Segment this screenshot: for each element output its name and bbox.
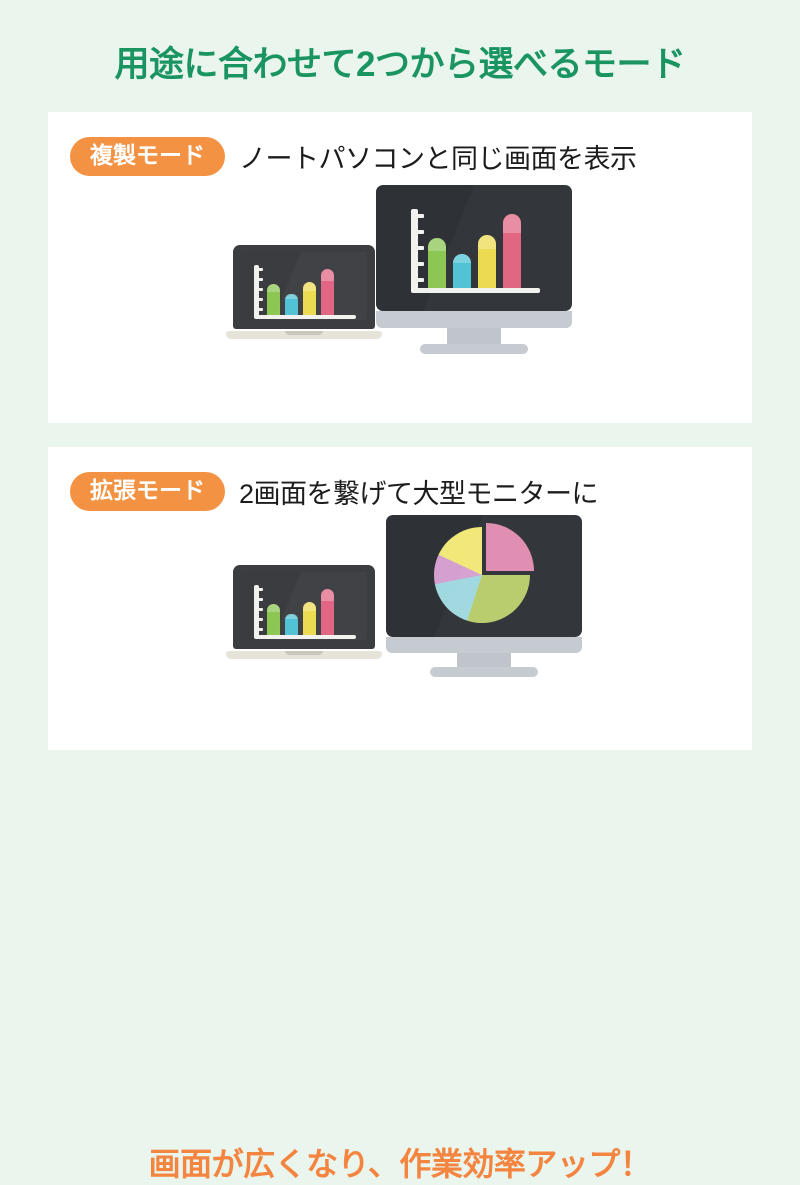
bar-4 — [321, 269, 334, 315]
pie-chart-monitor-extend — [434, 525, 534, 625]
monitor-duplicate — [376, 185, 572, 360]
device-illustration-extend — [48, 515, 752, 680]
pie-slice-pink-exploded — [438, 523, 534, 619]
bar-2 — [453, 254, 471, 288]
bar-3 — [478, 235, 496, 288]
bar-2 — [285, 614, 298, 635]
bar-chart-monitor-duplicate — [411, 203, 541, 293]
mode-badge-extend: 拡張モード — [70, 472, 225, 511]
bar-2 — [285, 294, 298, 315]
bar-1 — [267, 604, 280, 635]
page-title: 用途に合わせて2つから選べるモード — [0, 36, 800, 87]
laptop-duplicate — [226, 245, 382, 345]
bar-chart-laptop-extend — [254, 581, 358, 639]
mode-caption-extend: 画面が広くなり、作業効率アップ！ — [48, 1139, 752, 1185]
bar-3 — [303, 602, 316, 635]
mode-description-extend: 2画面を繋げて大型モニターに — [239, 472, 598, 511]
laptop-screen-extend — [241, 572, 367, 640]
bar-1 — [428, 238, 446, 288]
bar-1 — [267, 284, 280, 315]
mode-description-duplicate: ノートパソコンと同じ画面を表示 — [239, 137, 637, 176]
monitor-extend — [386, 515, 582, 680]
mode-header-duplicate: 複製モード ノートパソコンと同じ画面を表示 — [70, 137, 637, 176]
bar-4 — [503, 214, 521, 288]
bar-3 — [303, 282, 316, 315]
mode-badge-duplicate: 複製モード — [70, 137, 225, 176]
bar-4 — [321, 589, 334, 635]
device-illustration-duplicate — [48, 185, 752, 360]
laptop-screen-duplicate — [241, 252, 367, 320]
laptop-extend — [226, 565, 382, 665]
bar-chart-laptop-duplicate — [254, 261, 358, 319]
mode-header-extend: 拡張モード 2画面を繋げて大型モニターに — [70, 472, 598, 511]
